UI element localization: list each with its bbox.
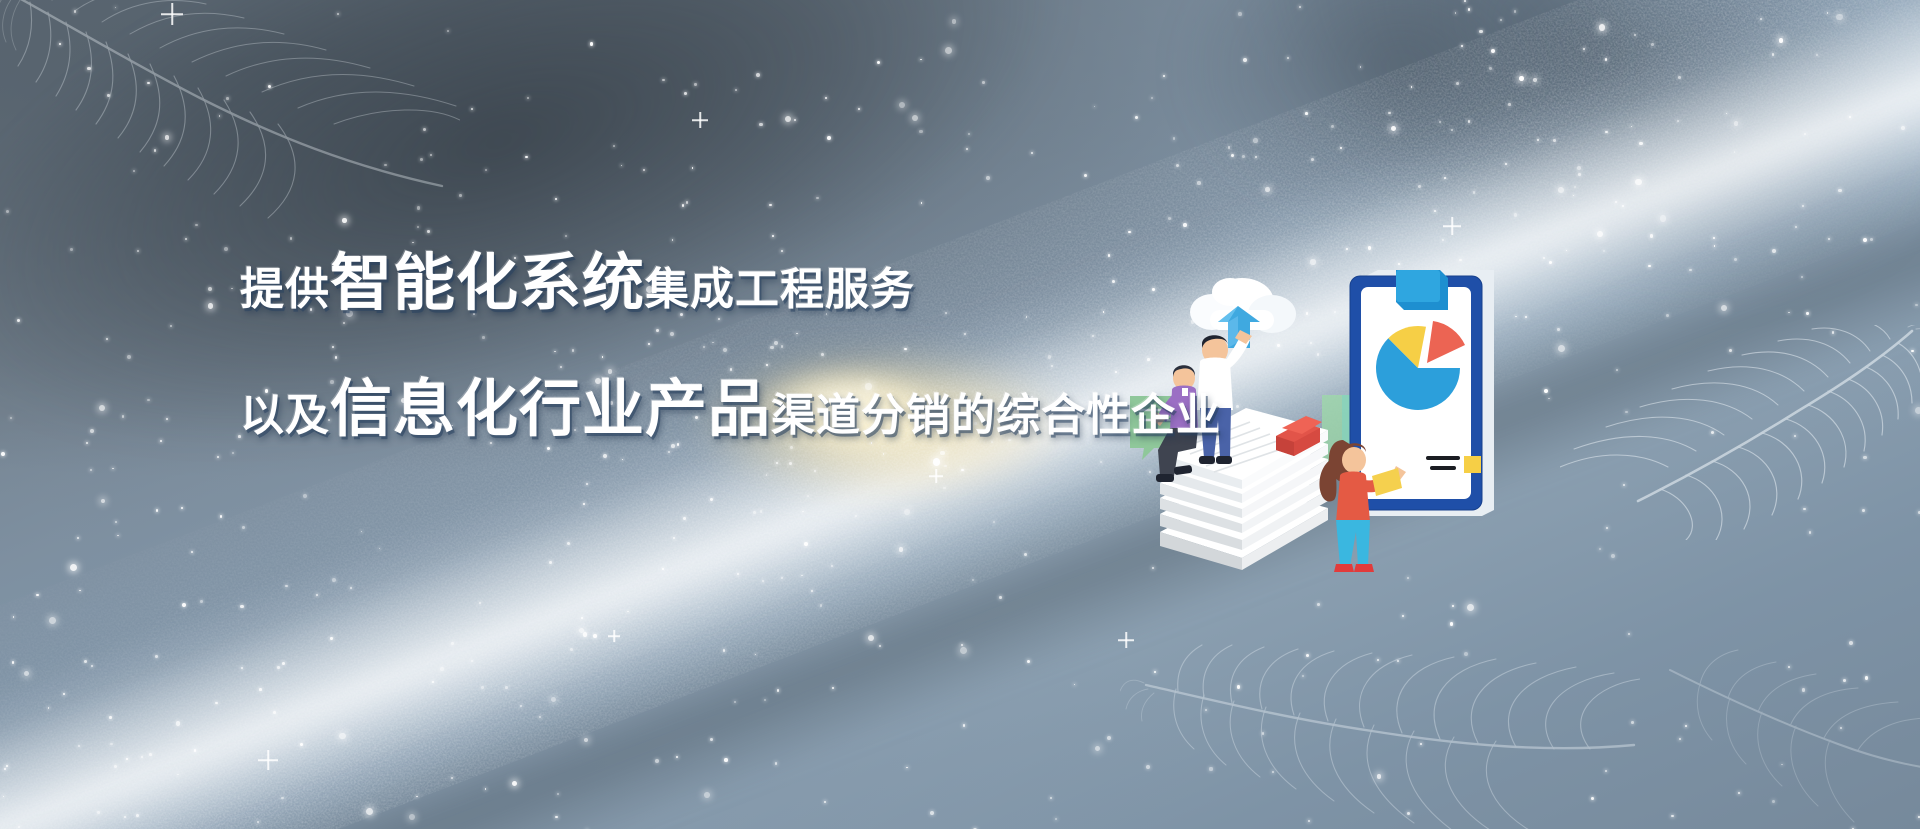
headline-line2-segment-1: 以及: [240, 379, 330, 443]
headline-line1-segment-2: 智能化系统: [330, 232, 645, 322]
headline-line-2: 以及信息化行业产品渠道分销的综合性企业: [240, 358, 1221, 448]
headline-line1-segment-1: 提供: [240, 253, 330, 317]
hero-banner: 提供智能化系统集成工程服务 以及信息化行业产品渠道分销的综合性企业: [0, 0, 1920, 829]
headline-block: 提供智能化系统集成工程服务 以及信息化行业产品渠道分销的综合性企业: [240, 232, 1221, 448]
headline-line2-segment-3: 渠道分销的综合性企业: [771, 379, 1221, 443]
clipboard-clip-icon: [1396, 270, 1448, 310]
headline-line-1: 提供智能化系统集成工程服务: [240, 232, 1221, 322]
clipboard-board: [1350, 270, 1494, 516]
headline-line2-segment-2: 信息化行业产品: [330, 358, 771, 448]
headline-line1-segment-3: 集成工程服务: [645, 253, 915, 317]
